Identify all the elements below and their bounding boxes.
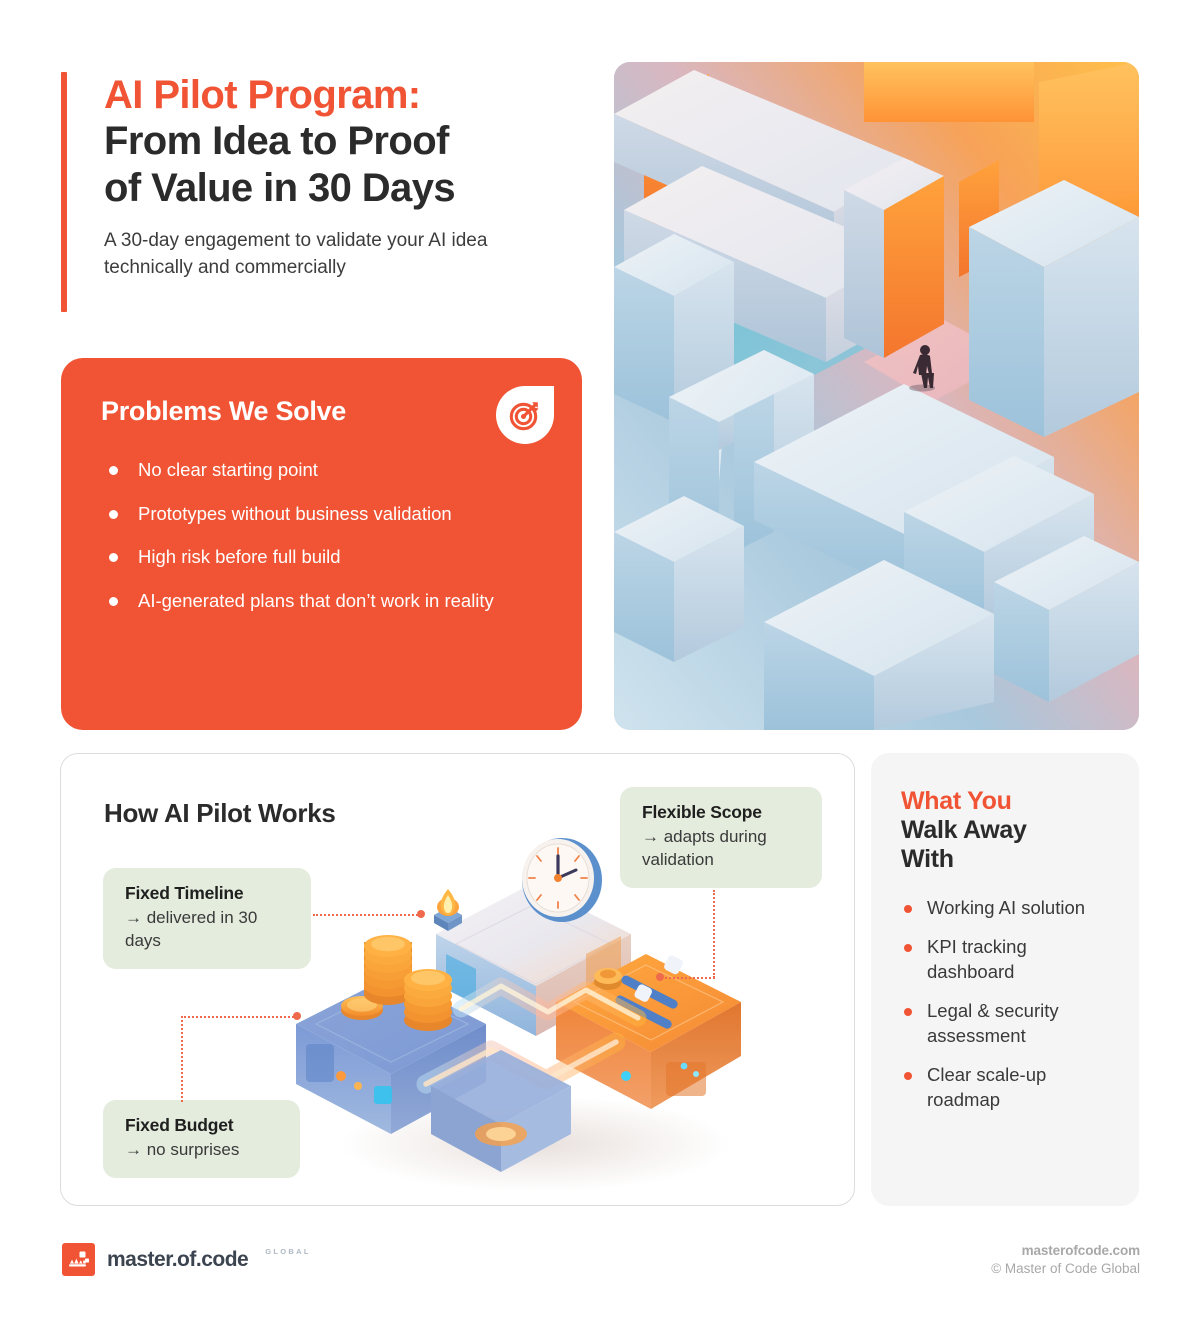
page-title-line-3: of Value in 30 Days <box>104 165 571 211</box>
problem-text: No clear starting point <box>138 459 318 480</box>
walkaway-title-accent: What You <box>901 787 1113 816</box>
callout-title: Flexible Scope <box>642 801 804 824</box>
callout-title: Fixed Budget <box>125 1114 282 1137</box>
bullet-dot-icon <box>109 597 118 606</box>
problem-text: Prototypes without business validation <box>138 503 452 524</box>
bullet-dot-icon <box>904 1008 912 1016</box>
problems-list: No clear starting point Prototypes witho… <box>101 457 542 615</box>
walkaway-list: Working AI solution KPI tracking dashboa… <box>901 896 1113 1113</box>
walkaway-text: KPI tracking dashboard <box>927 936 1027 982</box>
callout-fixed-timeline: Fixed Timeline → delivered in 30 days <box>103 868 311 969</box>
walkaway-text: Working AI solution <box>927 897 1085 918</box>
problem-text: High risk before full build <box>138 546 341 567</box>
footer-copyright: © Master of Code Global <box>991 1261 1140 1276</box>
walkaway-title-line-2: Walk Away <box>901 816 1113 845</box>
clock-icon <box>522 838 602 922</box>
callout-body: → no surprises <box>125 1139 282 1162</box>
logo-wordmark: master.of.code <box>107 1248 248 1272</box>
walkaway-text: Legal & security assessment <box>927 1000 1059 1046</box>
logo-global-label: GLOBAL <box>265 1247 310 1256</box>
callout-flexible-scope: Flexible Scope → adapts during validatio… <box>620 787 822 888</box>
list-item: High risk before full build <box>101 544 501 571</box>
maze-illustration <box>614 62 1139 730</box>
bullet-dot-icon <box>904 944 912 952</box>
list-item: No clear starting point <box>101 457 501 484</box>
target-icon <box>496 386 554 444</box>
bullet-dot-icon <box>109 510 118 519</box>
callout-body: → adapts during validation <box>642 826 804 872</box>
list-item: Working AI solution <box>901 896 1113 921</box>
problem-text: AI-generated plans that don’t work in re… <box>138 590 494 611</box>
problems-heading: Problems We Solve <box>101 396 542 427</box>
page-title-line-2: From Idea to Proof <box>104 118 571 164</box>
footer-website[interactable]: masterofcode.com <box>991 1243 1140 1258</box>
walkaway-title-line-3: With <box>901 845 1113 874</box>
bullet-dot-icon <box>904 1072 912 1080</box>
callout-body: → delivered in 30 days <box>125 907 293 953</box>
bullet-dot-icon <box>109 466 118 475</box>
walkaway-heading: What You Walk Away With <box>901 787 1113 874</box>
callout-title: Fixed Timeline <box>125 882 293 905</box>
what-you-walk-away-with-panel: What You Walk Away With Working AI solut… <box>871 753 1139 1206</box>
list-item: Clear scale-up roadmap <box>901 1063 1113 1113</box>
problems-we-solve-card: Problems We Solve No clear starting poin… <box>61 358 582 730</box>
logo-mark-glyph <box>68 1250 90 1270</box>
walkaway-text: Clear scale-up roadmap <box>927 1064 1046 1110</box>
page-subtitle: A 30-day engagement to validate your AI … <box>104 228 571 282</box>
list-item: Prototypes without business validation <box>101 501 501 528</box>
footer-credits: masterofcode.com © Master of Code Global <box>991 1243 1140 1276</box>
maze-illustration-graphic <box>614 62 1139 730</box>
master-of-code-logo-icon <box>62 1243 95 1276</box>
infographic-page: AI Pilot Program: From Idea to Proof of … <box>0 0 1200 1320</box>
header: AI Pilot Program: From Idea to Proof of … <box>61 72 571 312</box>
list-item: Legal & security assessment <box>901 999 1113 1049</box>
target-icon-glyph <box>508 398 542 432</box>
list-item: AI-generated plans that don’t work in re… <box>101 588 501 615</box>
header-accent-bar <box>61 72 67 312</box>
lamp-icon <box>434 889 462 931</box>
footer-logo[interactable]: master.of.code GLOBAL <box>62 1243 311 1276</box>
list-item: KPI tracking dashboard <box>901 935 1113 985</box>
page-title-accent: AI Pilot Program: <box>104 72 571 118</box>
callout-fixed-budget: Fixed Budget → no surprises <box>103 1100 300 1178</box>
bullet-dot-icon <box>904 905 912 913</box>
bullet-dot-icon <box>109 553 118 562</box>
